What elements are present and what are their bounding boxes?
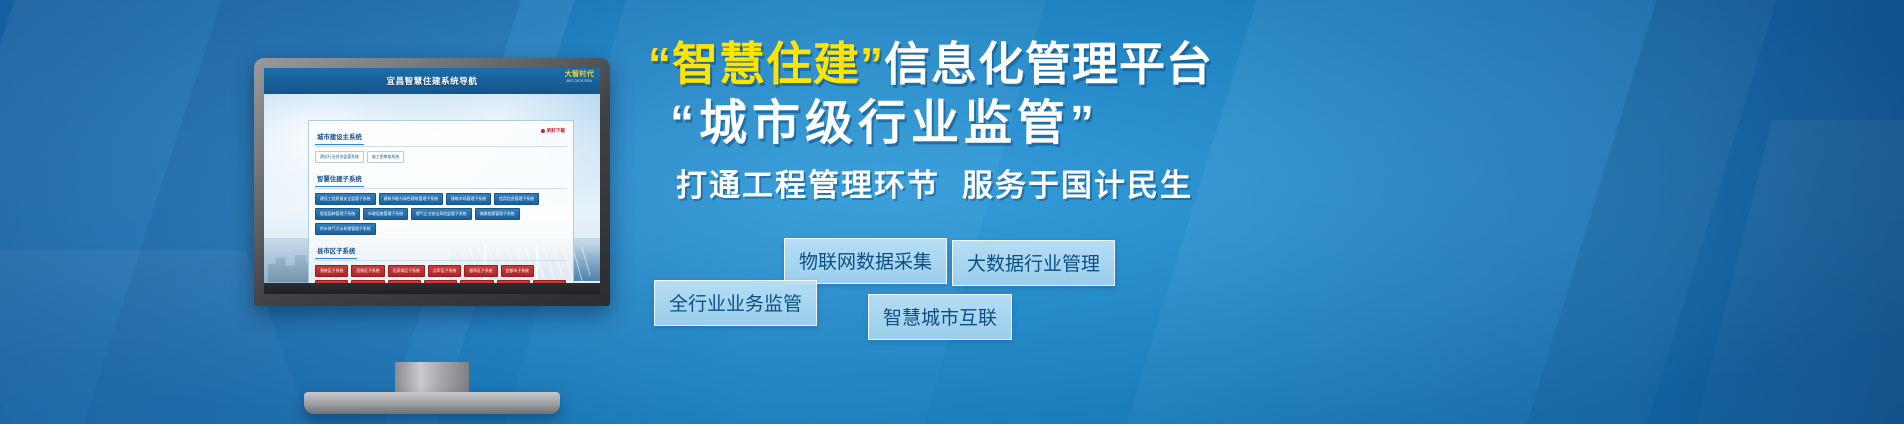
nav-chip[interactable]: 猴亭区子系统	[464, 265, 497, 277]
portal-body: 资料下载 城市建设主系统 建设行业综合监管系统 施工图审查系统 智慧住建子系统	[264, 94, 600, 294]
download-icon	[541, 129, 545, 133]
feature-tag-all-industry-business-supervision[interactable]: 全行业业务监管	[654, 280, 817, 326]
headline-subline: 打通工程管理环节服务于国计民生	[648, 160, 1828, 205]
nav-chip[interactable]: 信用信息管理子系统	[494, 193, 539, 205]
nav-chip[interactable]: 伍家岗区子系统	[388, 265, 425, 277]
promo-banner: 宜昌智慧住建系统导航 大智时代 BIG DATA ERA	[0, 0, 1904, 424]
nav-chip[interactable]: 建设工程质量安全监管子系统	[315, 193, 376, 205]
headline-line-2: “城市级行业监管”	[648, 98, 1828, 151]
nav-chip[interactable]: 建筑节能与绿色建筑管理子系统	[379, 193, 443, 205]
nav-chip[interactable]: 供水排气污水处理管理子系统	[315, 223, 376, 235]
subline-left: 打通工程管理环节	[676, 168, 940, 203]
portal-header: 宜昌智慧住建系统导航 大智时代 BIG DATA ERA	[264, 68, 600, 94]
section-title-main-system: 城市建设主系统	[315, 129, 364, 145]
section-divider	[315, 146, 567, 147]
headline-highlight: “智慧住建”	[648, 38, 884, 90]
section-items-sub-systems: 建设工程质量安全监管子系统 建筑节能与绿色建筑管理子系统 建筑市场管理子系统 信…	[315, 193, 567, 235]
section-divider	[315, 260, 567, 261]
download-link[interactable]: 资料下载	[541, 128, 565, 134]
brand-logo-cn: 大智时代	[565, 71, 594, 78]
brand-logo-sub: BIG DATA ERA	[565, 80, 594, 83]
nav-chip[interactable]: 智慧园林管理子系统	[315, 208, 360, 220]
download-label: 资料下载	[547, 128, 565, 134]
headline-line-1: “智慧住建”信息化管理平台	[648, 40, 1828, 90]
subline-right: 服务于国计民生	[962, 168, 1193, 203]
section-title-district-systems: 县市区子系统	[315, 243, 357, 259]
headline-block: “智慧住建”信息化管理平台 “城市级行业监管” 打通工程管理环节服务于国计民生	[648, 40, 1828, 205]
monitor-screen: 宜昌智慧住建系统导航 大智时代 BIG DATA ERA	[264, 68, 600, 294]
section-title-sub-systems: 智慧住建子系统	[315, 171, 364, 187]
monitor-mockup: 宜昌智慧住建系统导航 大智时代 BIG DATA ERA	[254, 58, 610, 306]
monitor-bezel: 宜昌智慧住建系统导航 大智时代 BIG DATA ERA	[254, 58, 610, 306]
headline-line-1-rest: 信息化管理平台	[884, 38, 1213, 90]
portal-nav-panel: 资料下载 城市建设主系统 建设行业综合监管系统 施工图审查系统 智慧住建子系统	[308, 120, 574, 294]
feature-tag-iot-data-collection[interactable]: 物联网数据采集	[784, 238, 947, 284]
feature-tag-big-data-industry-management[interactable]: 大数据行业管理	[952, 240, 1115, 286]
nav-chip[interactable]: 建设行业综合监管系统	[315, 151, 364, 163]
portal-title: 宜昌智慧住建系统导航	[386, 75, 477, 87]
nav-chip[interactable]: 城建档案管理子系统	[475, 208, 520, 220]
nav-chip[interactable]: 夷陵区子系统	[315, 265, 348, 277]
portal-brand-logo: 大智时代 BIG DATA ERA	[565, 71, 594, 83]
nav-chip[interactable]: 宜都市子系统	[501, 265, 534, 277]
nav-chip[interactable]: 市政设施管理子系统	[363, 208, 408, 220]
nav-chip[interactable]: 建筑市场管理子系统	[446, 193, 491, 205]
monitor-stand-base	[304, 392, 560, 414]
feature-tag-smart-city-interconnection[interactable]: 智慧城市互联	[868, 294, 1012, 340]
nav-chip[interactable]: 燃气企业安全风险监管子系统	[411, 208, 472, 220]
nav-chip[interactable]: 施工图审查系统	[367, 151, 404, 163]
monitor-chin	[264, 283, 600, 294]
section-divider	[315, 188, 567, 189]
section-items-main-system: 建设行业综合监管系统 施工图审查系统	[315, 151, 567, 163]
nav-chip[interactable]: 点军区子系统	[428, 265, 461, 277]
nav-chip[interactable]: 西陵区子系统	[351, 265, 384, 277]
